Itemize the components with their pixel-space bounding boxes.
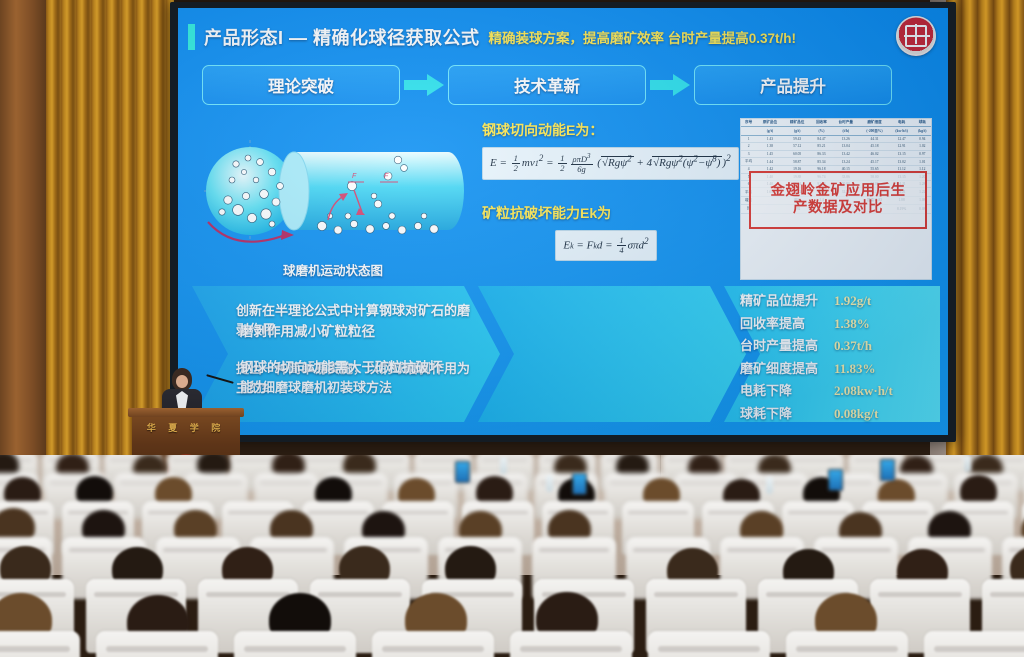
formula-box-kinetic-energy: E = 12mv12 = 12ρπD36g (√Rgψ2 + 4√Rgψ2(ψ2… [482, 147, 739, 180]
audience-phone [572, 473, 587, 495]
stat-key: 磨矿细度提高 [740, 358, 834, 377]
stat-value: 1.92g/t [834, 293, 871, 309]
table-cell: 1.45 [756, 150, 783, 157]
audience-phone [828, 469, 843, 491]
table-cell: 1 [741, 135, 756, 142]
header-accent-bar [188, 24, 195, 50]
table-col-header: 电耗 [890, 119, 914, 127]
stat-key: 球耗下降 [740, 403, 834, 422]
stat-row: 回收率提高1.38% [740, 313, 946, 332]
table-col-header: 序号 [741, 119, 756, 127]
step-box-theory[interactable]: 理论突破 [202, 65, 400, 105]
table-cell: 13.04 [832, 143, 859, 150]
table-cell: 13.26 [832, 135, 859, 142]
overlay-line-2: 产数据及对比 [793, 200, 883, 217]
water-bottle [546, 475, 553, 492]
stage-curtain-left [46, 0, 174, 470]
stat-row: 精矿品位提升1.92g/t [740, 290, 946, 309]
table-col-unit: (kw·h/t) [890, 127, 914, 135]
audience-chair [234, 631, 356, 657]
stat-row: 电耗下降2.08kw·h/t [740, 380, 946, 399]
slide-subtitle: 精确装球方案，提高磨矿效率 台时产量提高0.37t/h! [489, 27, 797, 47]
table-col-unit: (t/h) [832, 127, 859, 135]
step-box-innovation[interactable]: 技术革新 [448, 65, 646, 105]
table-cell: 1.38 [756, 143, 783, 150]
table-col-unit: (%) [811, 127, 832, 135]
stat-value: 2.08kw·h/t [834, 383, 893, 399]
lecture-hall-photo: 产品形态I — 精确化球径获取公式 精确装球方案，提高磨矿效率 台时产量提高0.… [0, 0, 1024, 657]
table-cell: 13.15 [890, 150, 914, 157]
table-col-unit: (g/t) [756, 127, 783, 135]
table-cell: 85.34 [811, 157, 832, 165]
table-cell: 58.87 [784, 157, 811, 165]
table-cell: 1.44 [756, 157, 783, 165]
stat-key: 电耗下降 [740, 380, 834, 399]
table-col-header: 磨矿细度 [859, 119, 889, 127]
table-col-header: 台时产量 [832, 119, 859, 127]
stat-value: 11.83% [834, 361, 876, 377]
water-bottle [964, 455, 971, 472]
step-box-product[interactable]: 产品提升 [694, 65, 892, 105]
table-row: 21.3857.1285.2113.0445.1812.911.02 [741, 143, 931, 150]
chevron2-line1: 磨剥作用减小矿粒粒径 [240, 320, 446, 340]
presentation-slide: 产品形态I — 精确化球径获取公式 精确装球方案，提高磨矿效率 台时产量提高0.… [178, 8, 948, 435]
audience-phone [455, 461, 470, 483]
audience-chair [96, 631, 218, 657]
svg-text:F: F [352, 173, 357, 180]
arrow-right-icon-2 [646, 74, 694, 96]
table-col-header: 回收率 [811, 119, 832, 127]
table-cell: 85.21 [811, 143, 832, 150]
table-cell: 84.47 [811, 135, 832, 142]
stat-row: 球耗下降0.08kg/t [740, 403, 946, 422]
speaker-face [176, 375, 188, 388]
stat-key: 回收率提高 [740, 313, 834, 332]
chevron2-line2: 钢球的切向动能需大于矿粒抗破坏能力 [240, 358, 448, 397]
table-cell: 12.91 [890, 143, 914, 150]
slide-middle-row: F F 球磨机运动状态图 钢球切向动能E为： E = 12mv12 = 12ρπ… [194, 116, 938, 281]
step-label: 理论突破 [268, 73, 334, 97]
table-cell: 1.02 [914, 143, 931, 150]
conclusion-chevrons: 创新在半理论公式中计算钢球对矿石的磨剥作用 提出一种简单易实施，以钢球磨剥作用为… [192, 286, 940, 422]
table-col-unit: (kg/t) [914, 127, 931, 135]
formula-box-breakage-resistance: Ek = Fkd = 14σπd2 [555, 230, 656, 262]
water-bottle [500, 457, 507, 474]
overlay-line-1: 金翅岭金矿应用后生 [771, 183, 906, 200]
table-cell: 44.31 [859, 135, 889, 142]
audience-phone [880, 459, 895, 481]
audience-chair [786, 631, 908, 657]
table-cell: 45.17 [859, 157, 889, 165]
table-col-unit: (g/t) [784, 127, 811, 135]
stat-key: 台时产量提高 [740, 335, 834, 354]
audience-area [0, 455, 1024, 657]
table-row: 11.4359.4384.4713.2644.3112.470.94 [741, 135, 931, 142]
stat-row: 台时产量提高0.37t/h [740, 335, 946, 354]
chevron-mechanism [478, 286, 746, 422]
table-col-header: 精矿品位 [784, 119, 811, 127]
table-cell: 平均 [741, 157, 756, 165]
stat-row: 磨矿细度提高11.83% [740, 358, 946, 377]
stage-curtain-right [946, 0, 1024, 470]
table-cell: 57.12 [784, 143, 811, 150]
table-cell: 0.97 [914, 150, 931, 157]
audience-chair [924, 631, 1024, 657]
table-cell: 3 [741, 150, 756, 157]
table-cell: 13.42 [832, 150, 859, 157]
table-col-header: 原矿品位 [756, 119, 783, 127]
slide-title: 产品形态I — 精确化球径获取公式 [204, 24, 480, 50]
table-cell: 2 [741, 143, 756, 150]
stat-value: 1.38% [834, 316, 870, 332]
slide-header: 产品形态I — 精确化球径获取公式 精确装球方案，提高磨矿效率 台时产量提高0.… [188, 22, 938, 52]
table-cell: 1.01 [914, 157, 931, 165]
stat-value: 0.37t/h [834, 338, 872, 354]
table-cell: 12.47 [890, 135, 914, 142]
table-cell: 0.94 [914, 135, 931, 142]
step-label: 产品提升 [760, 73, 826, 97]
diagram-caption: 球磨机运动状态图 [202, 260, 464, 279]
table-cell: 60.05 [784, 150, 811, 157]
table-cell: 13.02 [890, 157, 914, 165]
table-cell: 45.18 [859, 143, 889, 150]
production-data-table: 序号原矿品位精矿品位回收率台时产量磨矿细度电耗球耗(g/t)(g/t)(%)(t… [740, 118, 932, 280]
water-bottle [766, 477, 773, 494]
table-cell: 1.43 [756, 135, 783, 142]
audience-chair [648, 631, 770, 657]
results-stat-list: 精矿品位提升1.92g/t回收率提高1.38%台时产量提高0.37t/h磨矿细度… [740, 290, 946, 425]
arrow-right-icon-1 [400, 74, 448, 96]
university-seal-icon [896, 16, 936, 56]
ball-mill-diagram: F F 球磨机运动状态图 [202, 134, 464, 279]
podium-top-surface [128, 408, 244, 417]
step-label: 技术革新 [514, 73, 580, 97]
table-col-unit [741, 127, 756, 135]
process-steps: 理论突破 技术革新 产品提升 [202, 64, 924, 106]
ball-mill-svg: F F [202, 134, 464, 259]
stat-key: 精矿品位提升 [740, 290, 834, 309]
table-cell: 46.02 [859, 150, 889, 157]
audience-chair [0, 631, 80, 657]
audience-chair [372, 631, 494, 657]
table-col-unit: (-200目%) [859, 127, 889, 135]
table-cell: 59.43 [784, 135, 811, 142]
svg-text:F: F [384, 173, 389, 180]
table-cell: 13.24 [832, 157, 859, 165]
table-cell: 86.33 [811, 150, 832, 157]
table-row: 31.4560.0586.3313.4246.0213.150.97 [741, 150, 931, 157]
formula-label-1: 钢球切向动能E为： [482, 120, 730, 140]
table-unit-row: (g/t)(g/t)(%)(t/h)(-200目%)(kw·h/t)(kg/t) [741, 127, 931, 135]
podium-label: 华 夏 学 院 [132, 421, 240, 434]
table-col-header: 球耗 [914, 119, 931, 127]
table-header-row: 序号原矿品位精矿品位回收率台时产量磨矿细度电耗球耗 [741, 119, 931, 127]
audience-chair [510, 631, 632, 657]
wood-panel-left [0, 0, 46, 470]
formula-column: 钢球切向动能E为： E = 12mv12 = 12ρπD36g (√Rgψ2 +… [482, 120, 730, 266]
table-row: 平均1.4458.8785.3413.2445.1713.021.01 [741, 157, 931, 165]
table-overlay-caption: 金翅岭金矿应用后生 产数据及对比 [749, 171, 927, 229]
formula-label-2: 矿粒抗破坏能力Ek为 [482, 203, 730, 223]
stat-value: 0.08kg/t [834, 406, 878, 422]
